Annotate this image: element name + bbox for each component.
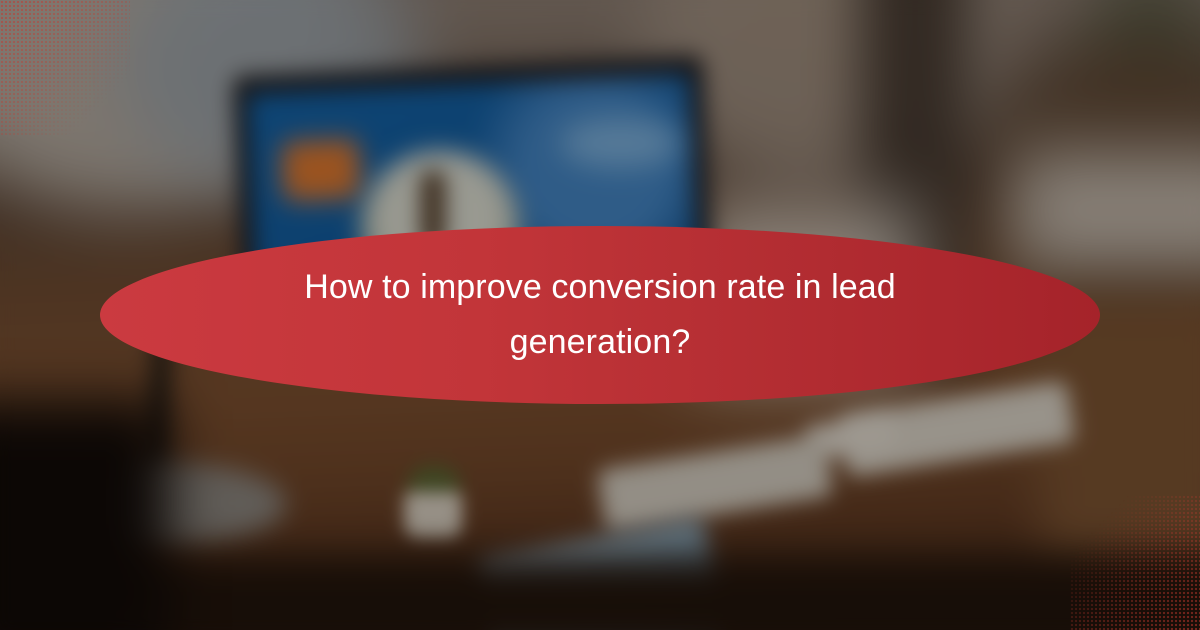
page-title: How to improve conversion rate in lead g… [255, 260, 945, 370]
social-share-card: How to improve conversion rate in lead g… [0, 0, 1200, 630]
headline-banner: How to improve conversion rate in lead g… [100, 226, 1100, 404]
